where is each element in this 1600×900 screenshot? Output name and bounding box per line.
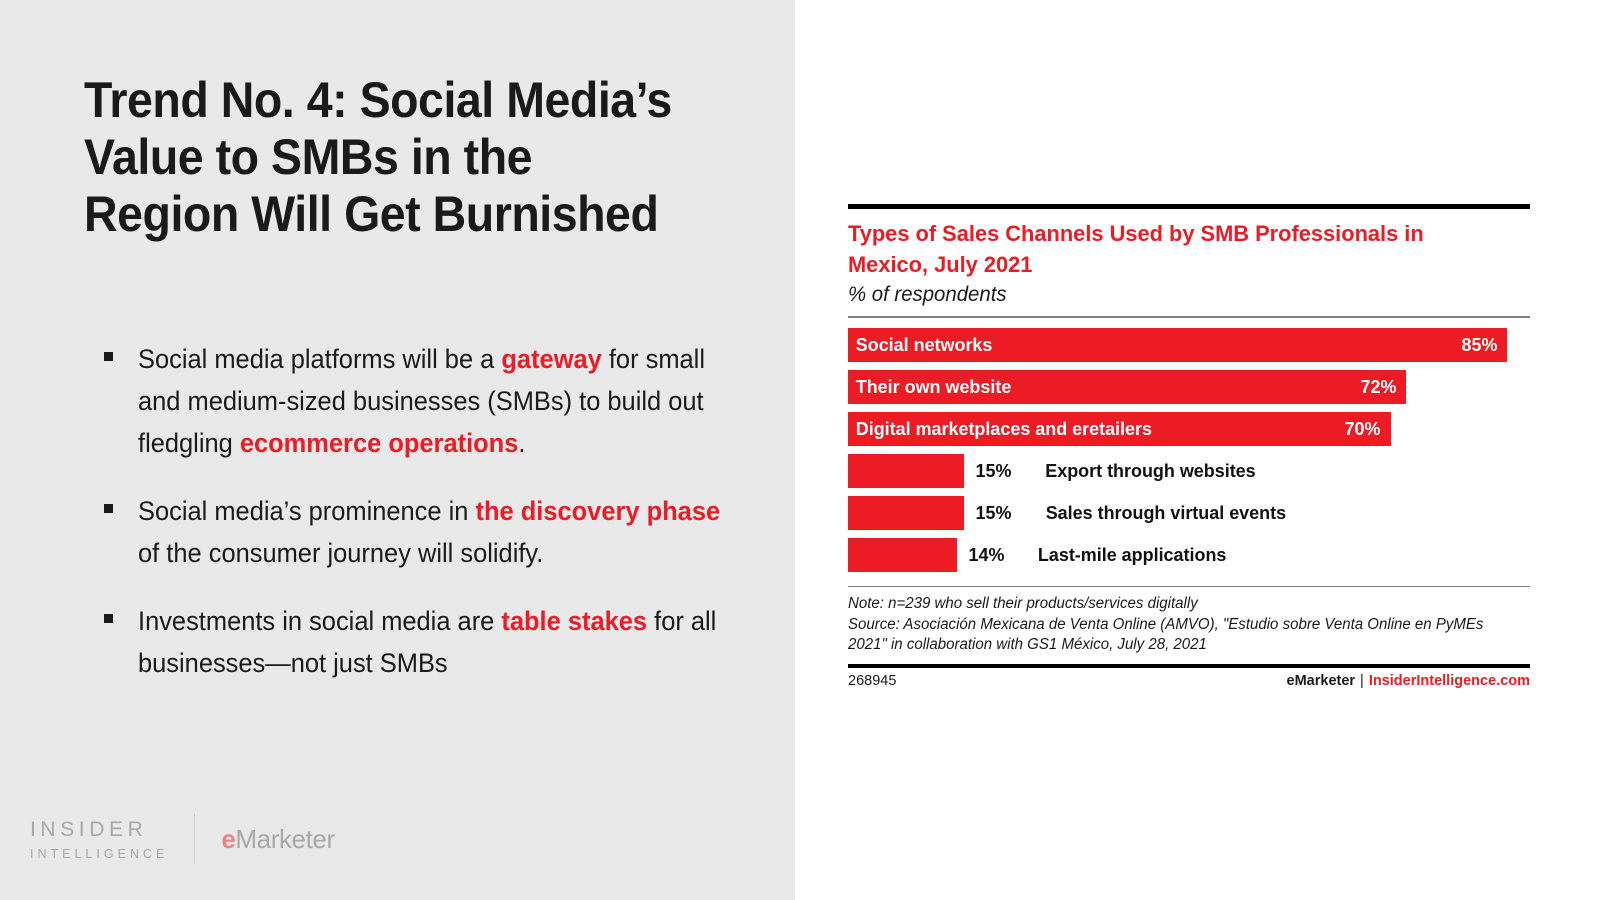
bar-value-label: 85% [1461,334,1497,356]
emarketer-logo: eMarketer [221,824,334,855]
footer-website-link[interactable]: InsiderIntelligence.com [1369,673,1530,689]
chart-source: Source: Asociación Mexicana de Venta Onl… [848,615,1510,656]
chart-footer: 268945 eMarketer|InsiderIntelligence.com [848,673,1530,689]
page-title: Trend No. 4: Social Media’s Value to SMB… [84,72,689,243]
list-item: Social media platforms will be a gateway… [100,338,745,464]
bar-category-label: Last-mile applications [1037,538,1225,572]
chart-note: Note: n=239 who sell their products/serv… [848,594,1510,615]
bullet-text-1: Social media platforms will be a gateway… [138,338,721,464]
bar-chart-row: 15%Sales through virtual events [848,496,1530,530]
chart-top-rule [848,204,1530,209]
bar-category-label: Social networks [848,334,992,356]
bar-chart-row: 15%Export through websites [848,454,1530,488]
bar-chart-row: Social networks85% [848,328,1530,362]
body-text-run: Investments in social media are [138,606,501,636]
logo-divider [194,814,195,864]
bar-category-label: Their own website [848,376,1011,398]
chart-bottom-rule [848,664,1530,668]
chart-header-divider [848,316,1530,318]
body-text-run: of the consumer journey will solidify. [138,538,543,568]
bar-segment [848,538,957,572]
highlighted-phrase: ecommerce operations [240,428,519,458]
highlighted-phrase: the discovery phase [476,496,721,526]
highlighted-phrase: gateway [501,344,601,374]
bar-value-label: 15% [976,496,1012,530]
bar-chart-row: Their own website72% [848,370,1530,404]
bar-value-label: 15% [976,454,1012,488]
bar-category-label: Export through websites [1046,454,1256,488]
bullet-text-3: Investments in social media are table st… [138,600,721,684]
bar-segment: Digital marketplaces and eretailers70% [848,412,1391,446]
footer-separator: | [1360,673,1364,689]
chart-title: Types of Sales Channels Used by SMB Prof… [848,218,1510,280]
bar-value-label: 14% [968,538,1004,572]
body-text-run: Social media’s prominence in [138,496,476,526]
bar-category-label: Digital marketplaces and eretailers [848,418,1152,440]
emarketer-logo-text: Marketer [235,824,334,854]
chart-id: 268945 [848,673,896,689]
chart-card: Types of Sales Channels Used by SMB Prof… [848,204,1530,689]
insider-intelligence-logo-line2: INTELLIGENCE [30,847,168,861]
chart-note-and-source: Note: n=239 who sell their products/serv… [848,594,1510,656]
square-bullet-icon [104,614,113,623]
bar-segment: Social networks85% [848,328,1507,362]
list-item: Investments in social media are table st… [100,600,745,684]
highlighted-phrase: table stakes [501,606,647,636]
bar-segment [848,454,964,488]
square-bullet-icon [104,504,113,513]
bar-segment [848,496,964,530]
bar-value-label: 72% [1361,376,1397,398]
bar-category-label: Sales through virtual events [1046,496,1286,530]
bar-chart-plot: Social networks85%Their own website72%Di… [848,328,1530,572]
chart-note-divider [848,586,1530,588]
square-bullet-icon [104,352,113,361]
insider-intelligence-logo-line1: INSIDER [30,818,168,842]
chart-footer-brand: eMarketer|InsiderIntelligence.com [1287,673,1530,689]
bar-chart-row: 14%Last-mile applications [848,538,1530,572]
bar-value-label: 70% [1345,418,1381,440]
bar-segment: Their own website72% [848,370,1406,404]
chart-subtitle: % of respondents [848,283,1510,307]
bullet-text-2: Social media’s prominence in the discove… [138,490,721,574]
insider-intelligence-logo: INSIDER INTELLIGENCE [30,818,168,861]
footer-emarketer-label: eMarketer [1287,673,1356,689]
slide-canvas: Trend No. 4: Social Media’s Value to SMB… [0,0,1600,900]
brand-logo-lockup: INSIDER INTELLIGENCE eMarketer [30,814,335,864]
emarketer-logo-e: e [221,824,235,854]
list-item: Social media’s prominence in the discove… [100,490,745,574]
body-text-run: Social media platforms will be a [138,344,501,374]
bar-chart-row: Digital marketplaces and eretailers70% [848,412,1530,446]
bullet-list: Social media platforms will be a gateway… [100,338,745,710]
body-text-run: . [518,428,525,458]
